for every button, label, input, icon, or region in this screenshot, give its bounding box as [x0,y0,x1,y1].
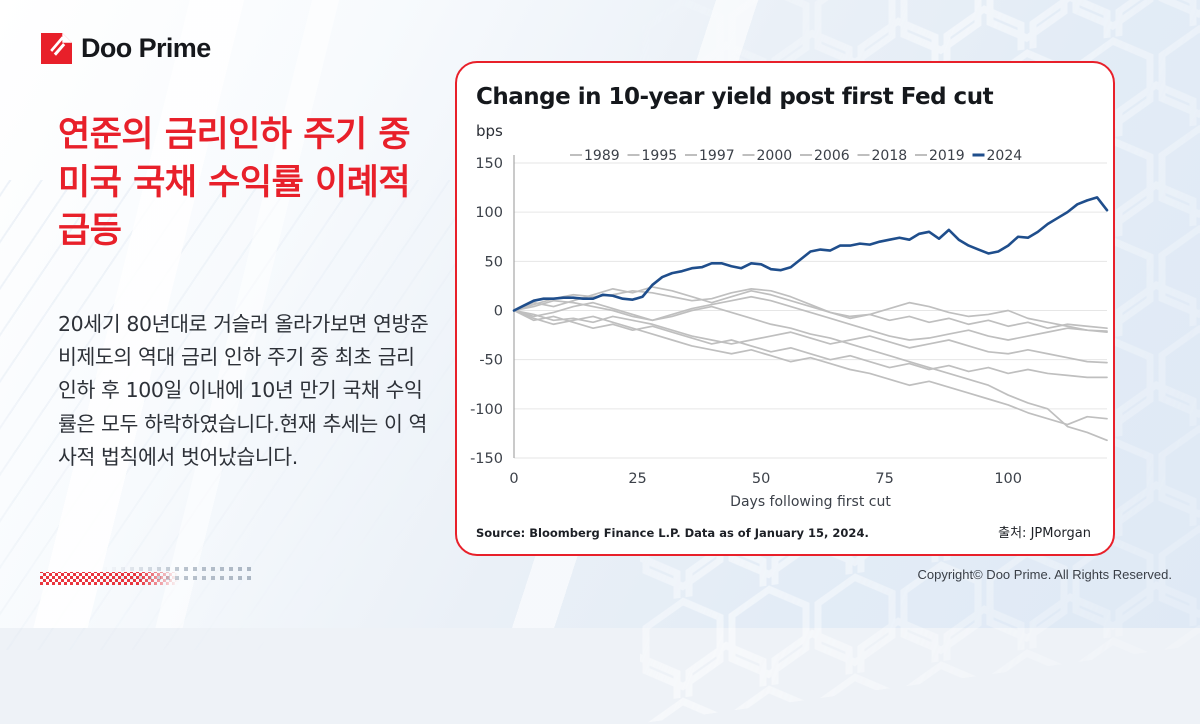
brand-name: Doo Prime [81,33,211,64]
svg-text:-100: -100 [470,402,503,418]
chart-card: Change in 10-year yield post first Fed c… [455,61,1115,556]
svg-text:2019: 2019 [929,148,965,164]
left-content-column: Doo Prime 연준의 금리인하 주기 중 미국 국채 수익률 이례적 급등… [0,0,450,628]
svg-text:1989: 1989 [584,148,620,164]
page-headline: 연준의 금리인하 주기 중 미국 국채 수익률 이례적 급등 [58,112,438,256]
chart-unit-label: bps [476,122,503,140]
chart-source-note: Source: Bloomberg Finance L.P. Data as o… [476,526,869,540]
svg-text:2018: 2018 [872,148,908,164]
svg-text:25: 25 [628,471,646,487]
svg-text:50: 50 [485,254,503,270]
svg-text:-50: -50 [479,353,503,369]
chart-title: Change in 10-year yield post first Fed c… [476,84,993,110]
svg-text:1997: 1997 [699,148,735,164]
svg-text:-150: -150 [470,451,503,467]
svg-text:50: 50 [752,471,770,487]
svg-text:2000: 2000 [757,148,793,164]
doo-prime-logo-icon [41,33,72,64]
chart-credit-note: 출처: JPMorgan [998,522,1091,541]
svg-text:150: 150 [475,156,503,172]
line-chart-plot: 150100500-50-100-1500255075100Days follo… [457,143,1115,523]
svg-text:2024: 2024 [987,148,1023,164]
svg-text:2006: 2006 [814,148,850,164]
brand-lockup: Doo Prime [41,33,211,64]
svg-text:1995: 1995 [642,148,678,164]
svg-text:100: 100 [475,205,503,221]
svg-text:75: 75 [875,471,893,487]
svg-text:100: 100 [994,471,1022,487]
body-paragraph: 20세기 80년대로 거슬러 올라가보면 연방준비제도의 역대 금리 인하 주기… [58,308,430,474]
svg-text:Days following first cut: Days following first cut [730,494,891,510]
svg-text:0: 0 [494,304,503,320]
hatched-bar-decoration [40,558,255,590]
svg-text:0: 0 [509,471,518,487]
copyright-notice: Copyright© Doo Prime. All Rights Reserve… [917,567,1172,582]
